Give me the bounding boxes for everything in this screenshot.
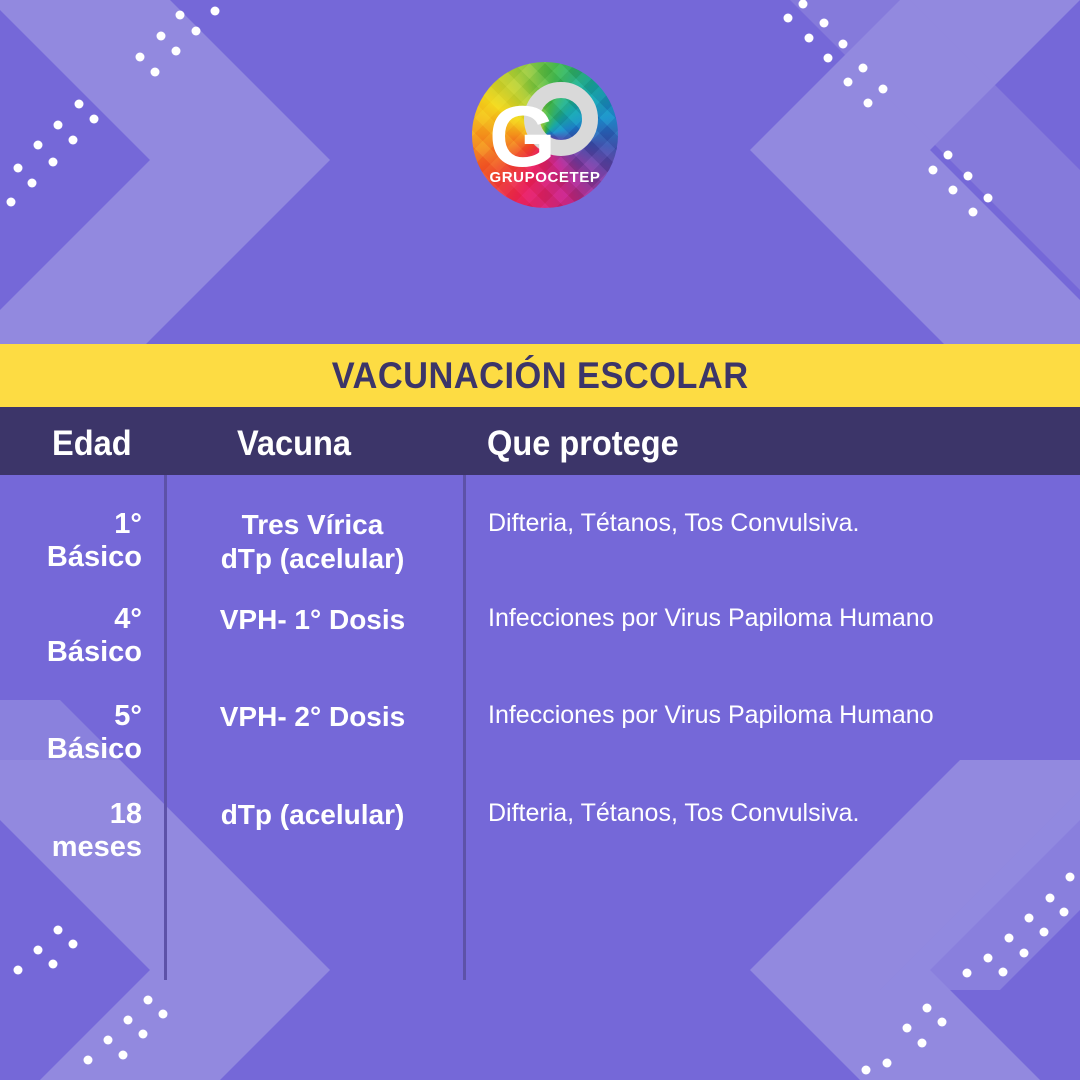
table-row: 5° Básico VPH- 2° Dosis Infecciones por … [0, 700, 1080, 796]
page-title: VACUNACIÓN ESCOLAR [332, 355, 749, 397]
cell-edad: 1° Básico [0, 508, 142, 574]
cell-vacuna: VPH- 1° Dosis [170, 603, 455, 637]
cell-edad-line2: meses [52, 831, 142, 863]
vaccination-schedule-poster: G GRUPOCETEP VACUNACIÓN ESCOLAR Edad Vac… [0, 0, 1080, 1080]
chevron-top-right [750, 0, 1080, 360]
cell-que-protege: Infecciones por Virus Papiloma Humano [488, 700, 1048, 730]
logo-gradient-circle: G GRUPOCETEP [472, 62, 618, 208]
cell-vacuna-line1: VPH- 1° Dosis [220, 604, 405, 635]
cell-edad-line1: 18 [110, 798, 142, 830]
cell-edad-line1: 1° [114, 508, 142, 540]
grupocetep-logo: G GRUPOCETEP [472, 62, 618, 208]
title-banner: VACUNACIÓN ESCOLAR [0, 344, 1080, 407]
logo-letter-g: G [489, 94, 554, 180]
cell-edad: 4° Básico [0, 603, 142, 669]
cell-edad-line2: Básico [47, 733, 142, 765]
cell-vacuna: dTp (acelular) [170, 798, 455, 832]
cell-que-protege: Infecciones por Virus Papiloma Humano [488, 603, 1048, 633]
cell-edad-line2: Básico [47, 541, 142, 573]
cell-vacuna: VPH- 2° Dosis [170, 700, 455, 734]
logo-wordmark: GRUPOCETEP [472, 169, 618, 186]
dot-cluster-top-left [7, 7, 220, 207]
cell-vacuna-line2: dTp (acelular) [170, 542, 455, 576]
cell-vacuna-line1: dTp (acelular) [221, 799, 405, 830]
cell-vacuna-line1: Tres Vírica [242, 509, 384, 540]
cell-edad-line1: 4° [114, 603, 142, 635]
cell-vacuna-line1: VPH- 2° Dosis [220, 701, 405, 732]
cell-edad-line2: Básico [47, 636, 142, 668]
table-row: 1° Básico Tres Vírica dTp (acelular) Dif… [0, 508, 1080, 604]
table-row: 18 meses dTp (acelular) Difteria, Tétano… [0, 798, 1080, 894]
dot-cluster-top-right [784, 0, 993, 217]
cell-vacuna: Tres Vírica dTp (acelular) [170, 508, 455, 576]
diagonal-band-top-right [700, 0, 1080, 390]
cell-edad: 18 meses [0, 798, 142, 864]
cell-que-protege: Difteria, Tétanos, Tos Convulsiva. [488, 508, 1048, 538]
column-header-vacuna: Vacuna [237, 424, 351, 464]
cell-edad: 5° Básico [0, 700, 142, 766]
chevron-top-left [0, 0, 330, 370]
column-header-edad: Edad [52, 424, 132, 464]
table-body: 1° Básico Tres Vírica dTp (acelular) Dif… [0, 475, 1080, 995]
table-header-row: Edad Vacuna Que protege [0, 407, 1080, 475]
cell-edad-line1: 5° [114, 700, 142, 732]
column-header-que-protege: Que protege [487, 424, 679, 464]
table-row: 4° Básico VPH- 1° Dosis Infecciones por … [0, 603, 1080, 699]
cell-que-protege: Difteria, Tétanos, Tos Convulsiva. [488, 798, 1048, 828]
